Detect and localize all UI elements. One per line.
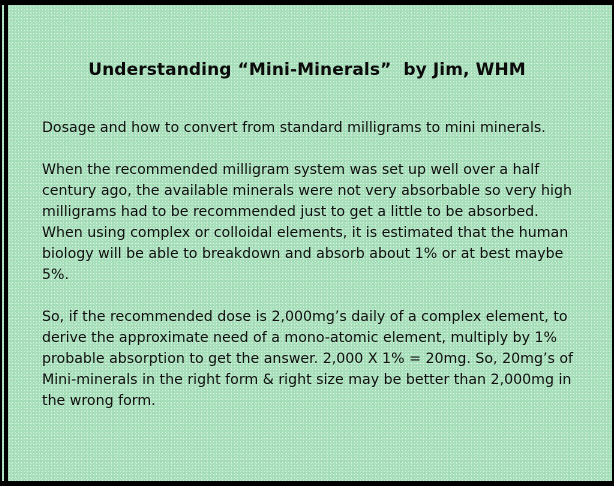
- slide-body-text: Dosage and how to convert from standard …: [42, 118, 580, 412]
- slide-frame: Understanding “Mini-Minerals” by Jim, WH…: [0, 0, 614, 486]
- paragraph-dosage-intro: Dosage and how to convert from standard …: [42, 118, 580, 139]
- slide-title: Understanding “Mini-Minerals” by Jim, WH…: [2, 60, 612, 80]
- paragraph-milligram-history: When the recommended milligram system wa…: [42, 160, 580, 286]
- slide-content: Understanding “Mini-Minerals” by Jim, WH…: [2, 5, 612, 481]
- paragraph-dose-calculation: So, if the recommended dose is 2,000mg’s…: [42, 307, 580, 412]
